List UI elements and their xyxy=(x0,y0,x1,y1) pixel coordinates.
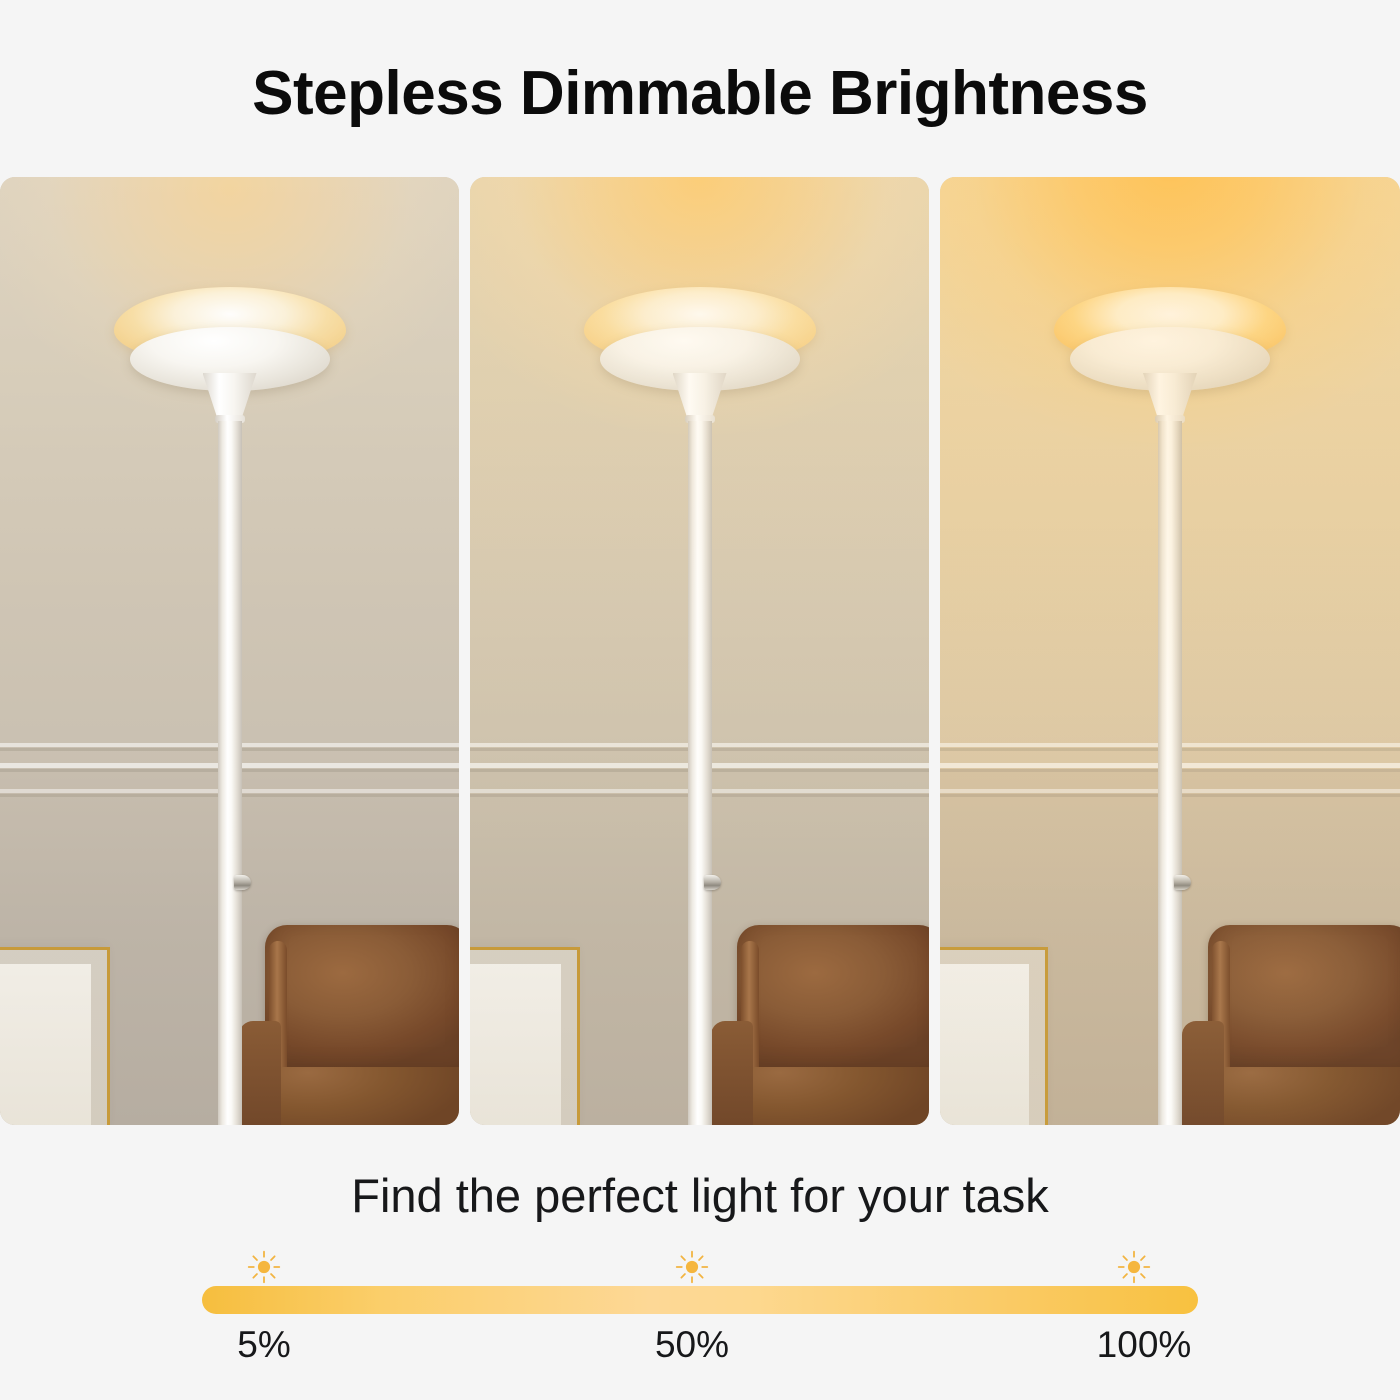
brightness-slider[interactable]: 5% 50% 100% xyxy=(202,1246,1198,1366)
page-title: Stepless Dimmable Brightness xyxy=(0,58,1400,129)
product-image-strip xyxy=(0,177,1400,1125)
slider-tick-label-mid: 50% xyxy=(655,1324,729,1366)
lamp-neck xyxy=(203,373,257,419)
slider-tick-label-min: 5% xyxy=(237,1324,290,1366)
lamp-neck xyxy=(673,373,727,419)
lamp-pole xyxy=(218,421,242,1125)
caption-text: Find the perfect light for your task xyxy=(0,1168,1400,1223)
gold-picture-frame xyxy=(0,947,110,1125)
torchiere-floor-lamp xyxy=(100,177,360,1125)
sun-icon xyxy=(1117,1250,1151,1284)
product-photo-brightness-high xyxy=(940,177,1400,1125)
torchiere-floor-lamp xyxy=(570,177,830,1125)
product-photo-brightness-medium xyxy=(470,177,929,1125)
slider-tick-label-max: 100% xyxy=(1097,1324,1192,1366)
dimmer-switch-icon xyxy=(1174,875,1191,890)
dimmer-switch-icon xyxy=(234,875,251,890)
slider-track[interactable] xyxy=(202,1286,1198,1314)
gold-picture-frame xyxy=(940,947,1048,1125)
lamp-pole xyxy=(688,421,712,1125)
sun-icon-row xyxy=(202,1246,1198,1286)
lamp-pole xyxy=(1158,421,1182,1125)
dimmer-switch-icon xyxy=(704,875,721,890)
sun-icon xyxy=(247,1250,281,1284)
slider-tick-labels: 5% 50% 100% xyxy=(202,1324,1198,1372)
sun-icon xyxy=(675,1250,709,1284)
product-photo-brightness-low xyxy=(0,177,459,1125)
torchiere-floor-lamp xyxy=(1040,177,1300,1125)
gold-picture-frame xyxy=(470,947,580,1125)
lamp-neck xyxy=(1143,373,1197,419)
